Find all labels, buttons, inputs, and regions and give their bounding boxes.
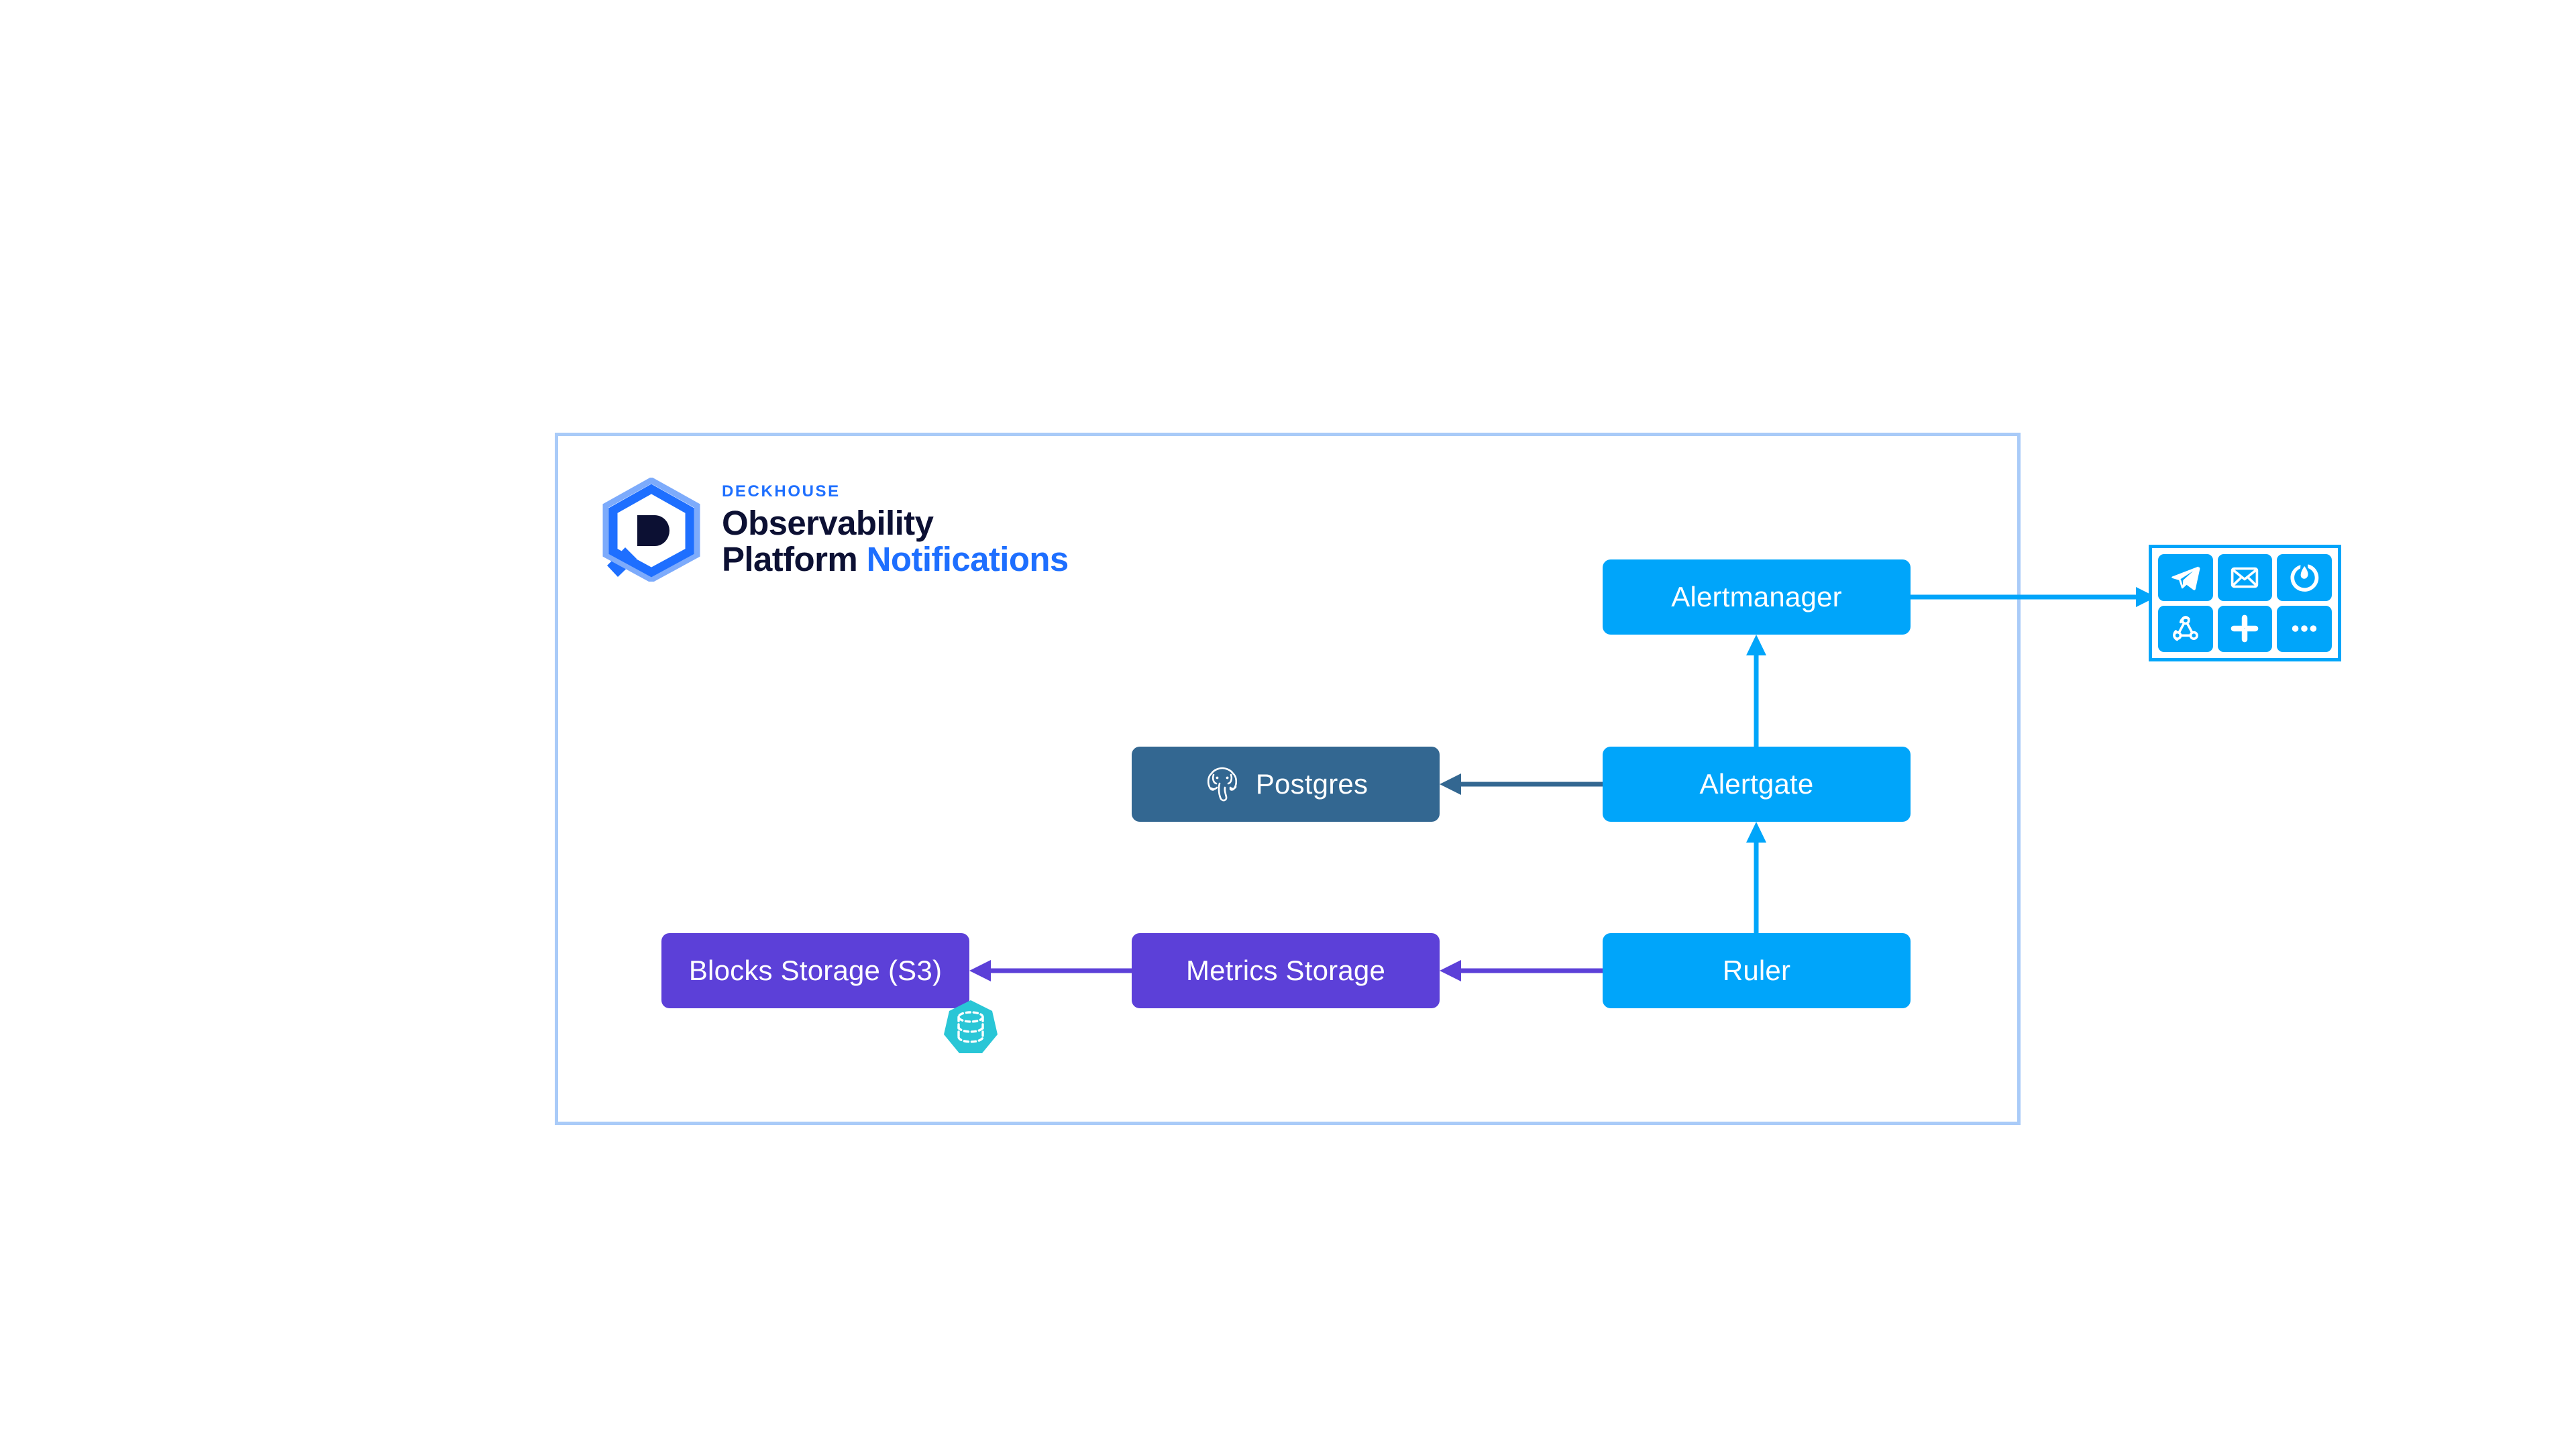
webhook-icon: [2170, 613, 2201, 644]
postgres-elephant-icon: [1203, 765, 1241, 803]
channel-tile-webhook[interactable]: [2158, 606, 2213, 653]
product-logo-lockup: DECKHOUSE Observability Platform Notific…: [596, 478, 1069, 582]
logo-line-observability: Observability: [722, 506, 1069, 540]
notification-channels-panel: [2149, 545, 2341, 661]
channel-tile-telegram[interactable]: [2158, 554, 2213, 601]
email-envelope-icon: [2229, 562, 2260, 593]
product-logo-text: DECKHOUSE Observability Platform Notific…: [722, 484, 1069, 576]
channel-tile-mattermost[interactable]: [2277, 554, 2332, 601]
node-metrics-storage[interactable]: Metrics Storage: [1132, 933, 1440, 1008]
channel-tile-more[interactable]: [2277, 606, 2332, 653]
channel-tile-slack[interactable]: [2218, 606, 2273, 653]
logo-line-platform-notifications: Platform Notifications: [722, 542, 1069, 576]
node-postgres-label: Postgres: [1256, 768, 1368, 800]
channel-tile-email[interactable]: [2218, 554, 2273, 601]
node-blocks-storage[interactable]: Blocks Storage (S3): [661, 933, 969, 1008]
kubernetes-persistent-volume-claim-icon: [942, 998, 1000, 1056]
ellipsis-icon: [2289, 613, 2320, 644]
slack-icon: [2229, 613, 2260, 644]
node-postgres[interactable]: Postgres: [1132, 747, 1440, 822]
mattermost-icon: [2289, 562, 2320, 593]
node-postgres-content: Postgres: [1203, 765, 1368, 803]
node-alertgate-label: Alertgate: [1700, 768, 1814, 800]
diagram-canvas: DECKHOUSE Observability Platform Notific…: [0, 0, 2576, 1449]
telegram-icon: [2170, 562, 2201, 593]
node-ruler[interactable]: Ruler: [1603, 933, 1911, 1008]
node-alertgate[interactable]: Alertgate: [1603, 747, 1911, 822]
logo-notifications-word: Notifications: [867, 540, 1069, 578]
logo-platform-word: Platform: [722, 540, 857, 578]
node-alertmanager[interactable]: Alertmanager: [1603, 559, 1911, 635]
deckhouse-hexagon-d-logo-icon: [596, 478, 704, 582]
node-ruler-label: Ruler: [1723, 955, 1790, 987]
node-metrics-storage-label: Metrics Storage: [1186, 955, 1385, 987]
node-alertmanager-label: Alertmanager: [1671, 581, 1842, 613]
node-blocks-storage-label: Blocks Storage (S3): [689, 955, 942, 987]
logo-eyebrow: DECKHOUSE: [722, 484, 1069, 500]
